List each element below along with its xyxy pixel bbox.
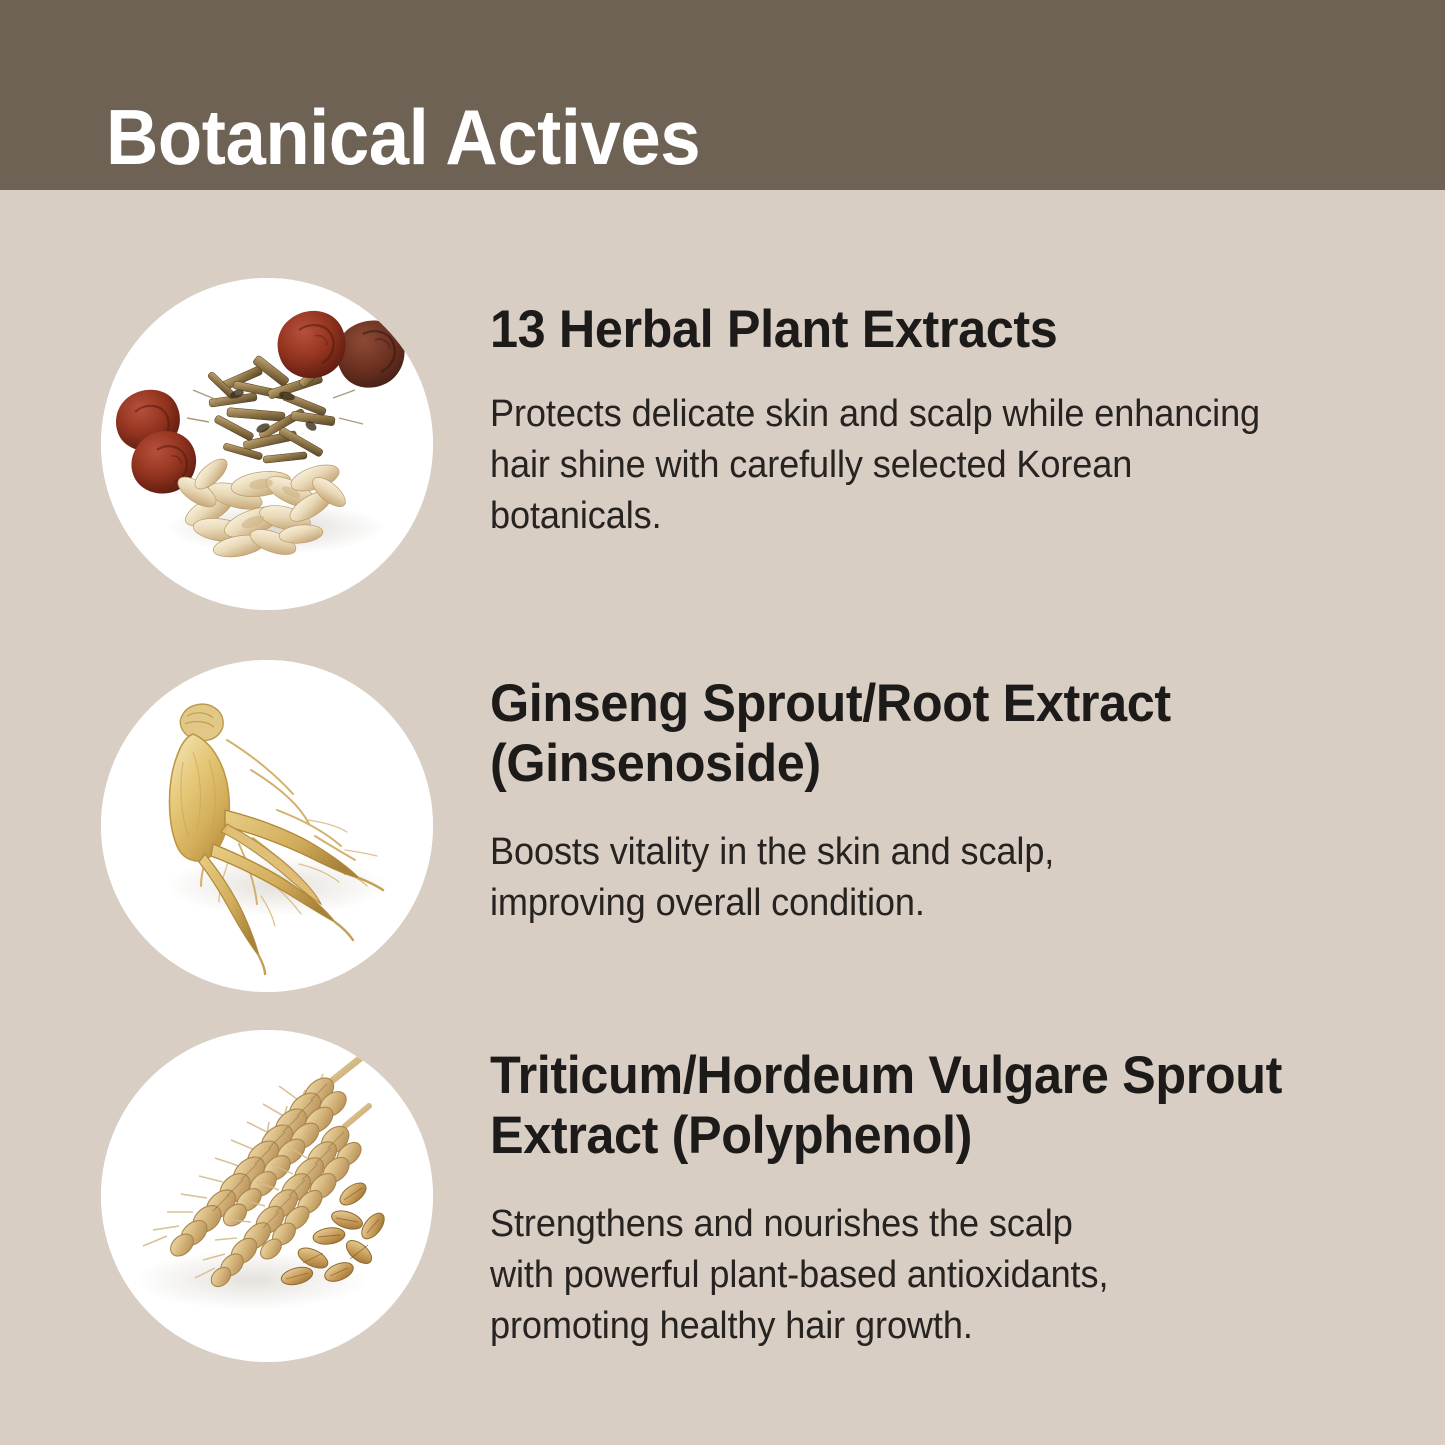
ginseng-root-photo	[101, 660, 433, 992]
feature-body-line: Boosts vitality in the skin and scalp,	[490, 827, 1307, 878]
feature-text-block: Triticum/Hordeum Vulgare Sprout Extract …	[490, 1030, 1350, 1352]
feature-body-line: Protects delicate skin and scalp while e…	[490, 389, 1307, 440]
dried-herbs-photo	[101, 278, 433, 610]
feature-text-block: Ginseng Sprout/Root Extract (Ginsenoside…	[490, 660, 1350, 929]
header-band: Botanical Actives	[0, 0, 1445, 190]
feature-body-line: promoting healthy hair growth.	[490, 1301, 1307, 1352]
feature-body-line: with powerful plant-based antioxidants,	[490, 1250, 1307, 1301]
feature-heading: Ginseng Sprout/Root Extract (Ginsenoside…	[490, 674, 1307, 795]
page-title: Botanical Actives	[106, 98, 700, 176]
feature-heading: 13 Herbal Plant Extracts	[490, 300, 1307, 360]
feature-body-line: improving overall condition.	[490, 878, 1307, 929]
wheat-sprout-photo	[101, 1030, 433, 1362]
feature-heading: Triticum/Hordeum Vulgare Sprout Extract …	[490, 1046, 1307, 1167]
feature-body-line: Strengthens and nourishes the scalp	[490, 1199, 1307, 1250]
feature-body: Boosts vitality in the skin and scalp, i…	[490, 827, 1307, 929]
feature-list: 13 Herbal Plant Extracts Protects delica…	[0, 190, 1445, 1445]
feature-text-block: 13 Herbal Plant Extracts Protects delica…	[490, 278, 1350, 542]
botanical-actives-poster: Botanical Actives	[0, 0, 1445, 1445]
feature-body-line: hair shine with carefully selected Korea…	[490, 440, 1307, 542]
feature-body: Protects delicate skin and scalp while e…	[490, 389, 1307, 542]
feature-body: Strengthens and nourishes the scalp with…	[490, 1199, 1307, 1352]
